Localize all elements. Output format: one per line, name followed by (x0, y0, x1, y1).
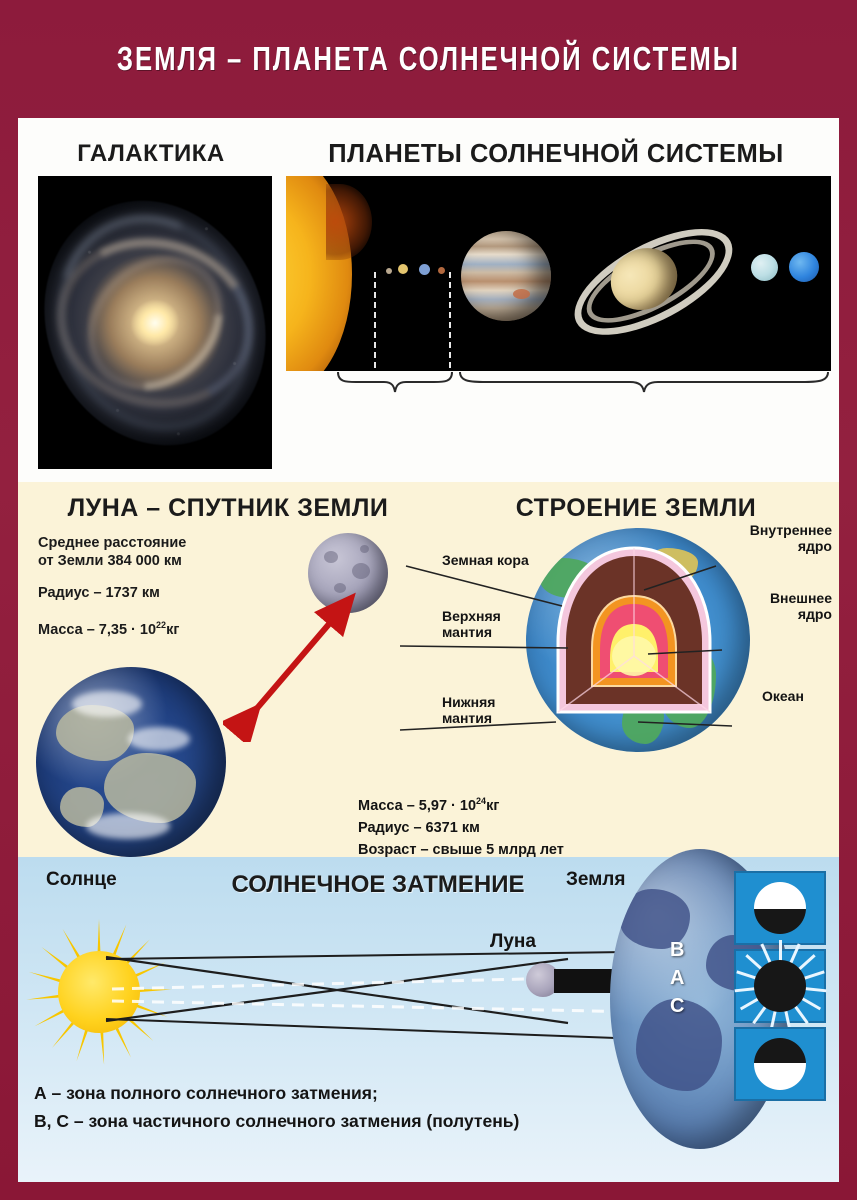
earth-cross-section-diagram (526, 528, 750, 752)
label-sun: Солнце (46, 869, 117, 891)
earth-radius-fact: Радиус – 6371 км (358, 817, 568, 839)
earth-mass-prefix: Масса – 5,97 · 10 (358, 798, 476, 814)
inner-group-dash-right (449, 272, 451, 368)
eclipse-ray-diagram (98, 945, 698, 1065)
section-moon-earth: ЛУНА – СПУТНИК ЗЕМЛИ СТРОЕНИЕ ЗЕМЛИ Сред… (18, 482, 839, 857)
planet-jupiter-icon (461, 231, 551, 321)
planet-venus-icon (398, 264, 408, 274)
page-title: ЗЕМЛЯ – ПЛАНЕТА СОЛНЕЧНОЙ СИСТЕМЫ (117, 40, 740, 78)
moon-mass-exponent: 22 (156, 620, 166, 630)
label-ocean: Океан (762, 688, 804, 704)
label-inner-core-line2: ядро (716, 538, 832, 554)
label-outer-core: Внешнее ядро (724, 590, 832, 622)
planets-image (286, 176, 831, 371)
moon-crater-icon (324, 551, 338, 563)
earth-cloud-icon (128, 727, 190, 751)
partial-eclipse-icon (754, 882, 806, 934)
label-outer-core-line2: ядро (724, 606, 832, 622)
earth-mass-unit: кг (486, 798, 499, 814)
planet-mars-icon (438, 267, 445, 274)
moon-crater-icon (360, 545, 369, 553)
eclipse-legend-line-2: В, С – зона частичного солнечного затмен… (34, 1107, 734, 1135)
label-inner-core: Внутреннее ядро (716, 522, 832, 554)
planets-heading: ПЛАНЕТЫ СОЛНЕЧНОЙ СИСТЕМЫ (280, 140, 832, 169)
solar-prominence-icon (326, 184, 372, 260)
great-red-spot-icon (513, 289, 530, 299)
label-outer-core-line1: Внешнее (724, 590, 832, 606)
moon-heading: ЛУНА – СПУТНИК ЗЕМЛИ (18, 494, 438, 523)
earth-cloud-icon (72, 691, 142, 717)
inner-group-brace (336, 370, 454, 394)
moon-distance-fact: Среднее расстояние от Земли 384 000 км (38, 534, 298, 570)
section-galaxy-planets: ГАЛАКТИКА ПЛАНЕТЫ СОЛНЕЧНОЙ СИСТЕМЫ (18, 118, 839, 482)
section-solar-eclipse: СОЛНЕЧНОЕ ЗАТМЕНИЕ Солнце Земля Луна (18, 857, 839, 1182)
outer-group-brace (458, 370, 830, 394)
earth-image (36, 667, 226, 857)
earth-cloud-icon (86, 813, 170, 839)
partial-eclipse-icon (754, 1038, 806, 1090)
label-lower-mantle-line2: мантия (442, 710, 495, 726)
earth-mass-fact: Масса – 5,97 · 1024кг (358, 790, 568, 817)
label-upper-mantle: Верхняя мантия (442, 608, 501, 640)
galaxy-heading: ГАЛАКТИКА (26, 140, 276, 168)
eclipse-phase-partial-top (734, 871, 826, 945)
earth-mass-exponent: 24 (476, 796, 486, 806)
zone-label-c: С (670, 995, 684, 1018)
moon-mass-unit: кг (166, 622, 179, 638)
earth-moon-distance-arrow (223, 592, 403, 742)
poster-title-bar: ЗЕМЛЯ – ПЛАНЕТА СОЛНЕЧНОЙ СИСТЕМЫ (0, 0, 857, 118)
planet-neptune-icon (789, 252, 819, 282)
planet-earth-icon (419, 264, 430, 275)
eclipse-heading: СОЛНЕЧНОЕ ЗАТМЕНИЕ (168, 871, 588, 899)
eclipse-phase-partial-bottom (734, 1027, 826, 1101)
moon-distance-line2: от Земли 384 000 км (38, 552, 298, 570)
moon-crater-icon (352, 563, 370, 579)
label-lower-mantle-line1: Нижняя (442, 694, 495, 710)
total-eclipse-icon (754, 960, 806, 1012)
label-earth: Земля (566, 869, 625, 891)
label-earth-crust: Земная кора (442, 552, 529, 568)
label-upper-mantle-line1: Верхняя (442, 608, 501, 624)
zone-label-b: В (670, 939, 684, 962)
label-upper-mantle-line2: мантия (442, 624, 501, 640)
zone-label-a: А (670, 967, 684, 990)
galaxy-image (38, 176, 272, 469)
label-lower-mantle: Нижняя мантия (442, 694, 495, 726)
eclipse-phase-total (734, 949, 826, 1023)
star-field-icon (38, 176, 272, 469)
planet-mercury-icon (386, 268, 392, 274)
eclipse-legend-line-1: А – зона полного солнечного затмения; (34, 1079, 734, 1107)
poster-root: ЗЕМЛЯ – ПЛАНЕТА СОЛНЕЧНОЙ СИСТЕМЫ ГАЛАКТ… (0, 0, 857, 1200)
label-inner-core-line1: Внутреннее (716, 522, 832, 538)
planet-saturn-icon (538, 176, 750, 371)
planet-uranus-icon (751, 254, 778, 281)
eclipse-legend: А – зона полного солнечного затмения; В,… (34, 1079, 734, 1135)
inner-group-dash-left (374, 272, 376, 368)
earth-facts-column-left: Масса – 5,97 · 1024кг Радиус – 6371 км (358, 790, 568, 839)
poster-board: ГАЛАКТИКА ПЛАНЕТЫ СОЛНЕЧНОЙ СИСТЕМЫ (18, 118, 839, 1182)
moon-mass-prefix: Масса – 7,35 · 10 (38, 622, 156, 638)
moon-distance-line1: Среднее расстояние (38, 534, 298, 552)
